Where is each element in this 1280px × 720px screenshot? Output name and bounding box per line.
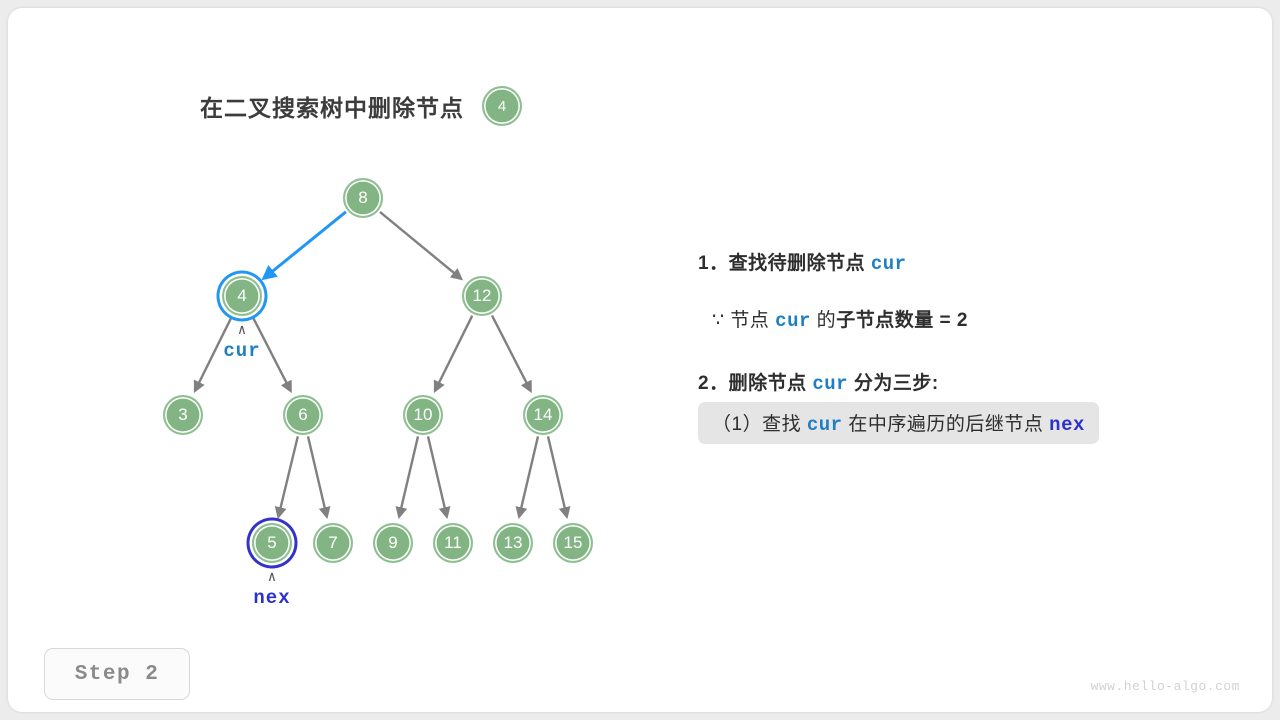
reason-part3: 子节点数量 bbox=[836, 310, 934, 331]
tree-node-value: 4 bbox=[237, 286, 246, 306]
tree-node-value: 12 bbox=[473, 286, 492, 306]
tree-node-value: 8 bbox=[358, 188, 367, 208]
reason-count: 2 bbox=[957, 310, 968, 331]
step2-var-cur: cur bbox=[812, 373, 848, 395]
title-badge-node: 4 bbox=[482, 86, 522, 126]
substep-highlight-box: （1）查找 cur 在中序遍历的后继节点 nex bbox=[698, 402, 1099, 444]
tree-edge-8-4 bbox=[264, 212, 346, 279]
because-symbol: ∵ bbox=[712, 310, 725, 331]
tree-node-value: 3 bbox=[178, 405, 187, 425]
pointer-label-nex: ∧nex bbox=[232, 573, 312, 609]
pointer-text: cur bbox=[223, 340, 260, 362]
substep-part1: 查找 bbox=[762, 414, 801, 435]
tree-edge-14-13 bbox=[519, 436, 538, 516]
tree-edge-8-12 bbox=[380, 212, 461, 279]
tree-node-10: 10 bbox=[403, 395, 443, 435]
tree-edge-10-11 bbox=[428, 436, 447, 516]
step2-suffix: 分为三步: bbox=[854, 373, 939, 394]
tree-node-12: 12 bbox=[462, 276, 502, 316]
title-badge-value: 4 bbox=[498, 98, 506, 115]
step1-line: 1．查找待删除节点 cur bbox=[698, 248, 1228, 275]
tree-node-value: 11 bbox=[444, 533, 462, 553]
step1-prefix: 1．查找待删除节点 bbox=[698, 253, 865, 274]
pointer-label-cur: ∧cur bbox=[202, 326, 282, 362]
tree-edge-12-14 bbox=[492, 316, 531, 391]
substep-index: （1） bbox=[712, 414, 762, 435]
tree-node-value: 13 bbox=[504, 533, 523, 553]
reason-equals: = bbox=[939, 310, 951, 331]
step2-line: 2．删除节点 cur 分为三步: bbox=[698, 368, 1228, 395]
tree-node-13: 13 bbox=[493, 523, 533, 563]
tree-edge-6-5 bbox=[278, 436, 297, 516]
reason-part1: 节点 bbox=[730, 310, 769, 331]
tree-node-6: 6 bbox=[283, 395, 323, 435]
step1-var-cur: cur bbox=[871, 253, 907, 275]
substep-var-cur: cur bbox=[807, 414, 843, 436]
tree-node-3: 3 bbox=[163, 395, 203, 435]
substep-part2: 在中序遍历的后继节点 bbox=[848, 414, 1043, 435]
reason-var-cur: cur bbox=[775, 310, 811, 332]
reason-line: ∵ 节点 cur 的子节点数量 = 2 bbox=[698, 305, 1228, 332]
step2-prefix: 2．删除节点 bbox=[698, 373, 807, 394]
pointer-text: nex bbox=[253, 587, 290, 609]
tree-edges bbox=[8, 8, 668, 712]
diagram-card: 在二叉搜索树中删除节点 4 8412361014579111315∧cur∧ne… bbox=[8, 8, 1272, 712]
substep-var-nex: nex bbox=[1049, 414, 1085, 436]
pointer-caret-icon: ∧ bbox=[268, 573, 276, 583]
tree-edge-10-9 bbox=[399, 436, 418, 516]
reason-part2: 的 bbox=[817, 310, 837, 331]
explanation-panel: 1．查找待删除节点 cur ∵ 节点 cur 的子节点数量 = 2 2．删除节点… bbox=[698, 248, 1228, 444]
tree-node-value: 10 bbox=[414, 405, 433, 425]
tree-node-value: 7 bbox=[328, 533, 337, 553]
pointer-caret-icon: ∧ bbox=[238, 326, 246, 336]
tree-edge-12-10 bbox=[435, 316, 472, 391]
tree-node-4: 4 bbox=[222, 276, 262, 316]
tree-node-9: 9 bbox=[373, 523, 413, 563]
tree-node-11: 11 bbox=[433, 523, 473, 563]
tree-node-7: 7 bbox=[313, 523, 353, 563]
tree-node-8: 8 bbox=[343, 178, 383, 218]
tree-node-5: 5 bbox=[252, 523, 292, 563]
tree-node-value: 9 bbox=[388, 533, 397, 553]
tree-node-value: 15 bbox=[564, 533, 583, 553]
tree-edge-14-15 bbox=[548, 436, 567, 516]
tree-node-value: 5 bbox=[267, 533, 276, 553]
substep-line: （1）查找 cur 在中序遍历的后继节点 nex bbox=[698, 402, 1228, 444]
footer-url: www.hello-algo.com bbox=[1091, 679, 1240, 694]
tree-edge-6-7 bbox=[308, 436, 327, 516]
tree-node-value: 6 bbox=[298, 405, 307, 425]
tree-node-14: 14 bbox=[523, 395, 563, 435]
tree-node-15: 15 bbox=[553, 523, 593, 563]
tree-node-value: 14 bbox=[534, 405, 553, 425]
